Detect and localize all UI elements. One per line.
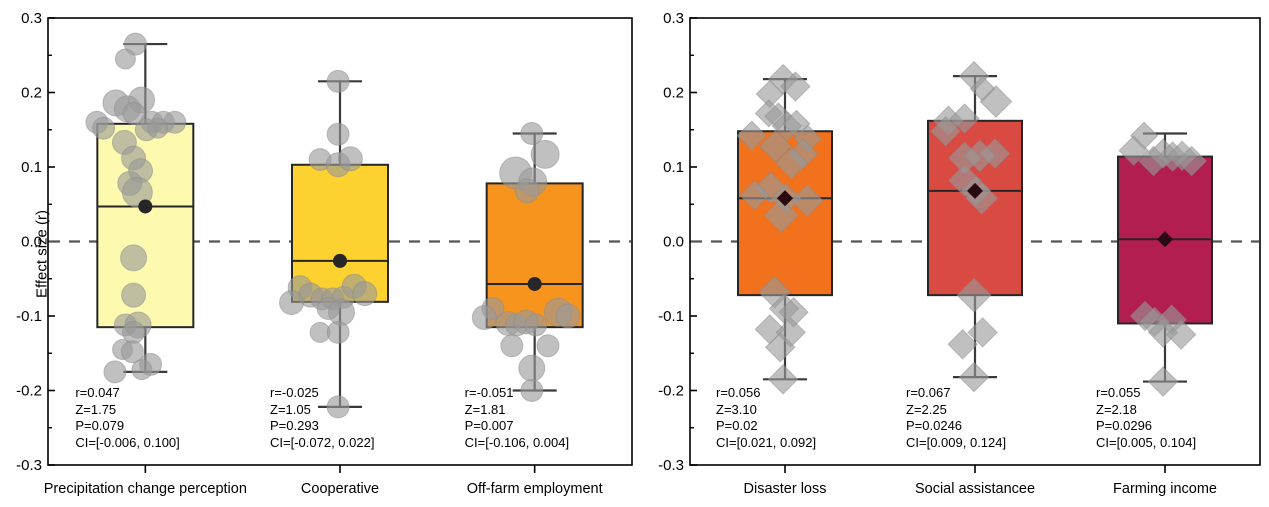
stat-line-r: r=0.055 bbox=[1096, 385, 1196, 402]
y-axis-title: Effect size (r) bbox=[34, 209, 51, 297]
y-tick-label: -0.2 bbox=[658, 383, 684, 400]
box-statistics: r=0.067Z=2.25P=0.0246CI=[0.009, 0.124] bbox=[906, 385, 1006, 451]
box-statistics: r=-0.025Z=1.05P=0.293CI=[-0.072, 0.022] bbox=[270, 385, 374, 451]
stat-line-P: P=0.0296 bbox=[1096, 418, 1196, 435]
data-point bbox=[531, 140, 559, 168]
data-point bbox=[327, 123, 349, 145]
data-point bbox=[327, 321, 349, 343]
stat-line-r: r=0.047 bbox=[75, 385, 179, 402]
y-tick-label: -0.2 bbox=[16, 383, 42, 400]
data-point bbox=[122, 283, 146, 307]
data-point bbox=[525, 314, 547, 336]
stat-line-Z: Z=1.05 bbox=[270, 402, 374, 419]
data-point bbox=[556, 304, 580, 328]
stat-line-CI: CI=[-0.106, 0.004] bbox=[465, 435, 569, 452]
median-marker bbox=[528, 277, 542, 291]
stat-line-Z: Z=2.18 bbox=[1096, 402, 1196, 419]
box-statistics: r=-0.051Z=1.81P=0.007CI=[-0.106, 0.004] bbox=[465, 385, 569, 451]
data-point bbox=[280, 291, 304, 315]
data-point bbox=[121, 245, 147, 271]
data-point bbox=[519, 355, 545, 381]
data-point bbox=[115, 49, 135, 69]
box-group bbox=[928, 62, 1022, 392]
x-axis-category-label: Farming income bbox=[1113, 481, 1217, 497]
stat-line-r: r=0.056 bbox=[716, 385, 816, 402]
x-axis-category-label: Social assistancee bbox=[915, 481, 1035, 497]
box-group bbox=[86, 33, 193, 383]
stat-line-r: r=-0.051 bbox=[465, 385, 569, 402]
stat-line-P: P=0.293 bbox=[270, 418, 374, 435]
y-tick-label: 0.1 bbox=[21, 159, 42, 176]
y-tick-label: -0.1 bbox=[658, 308, 684, 325]
data-point bbox=[472, 305, 496, 329]
stat-line-P: P=0.007 bbox=[465, 418, 569, 435]
y-tick-label: 0.3 bbox=[21, 10, 42, 27]
box-group bbox=[1118, 122, 1212, 396]
stat-line-CI: CI=[-0.072, 0.022] bbox=[270, 435, 374, 452]
data-point bbox=[148, 118, 168, 138]
stat-line-Z: Z=2.25 bbox=[906, 402, 1006, 419]
stat-line-P: P=0.079 bbox=[75, 418, 179, 435]
data-point bbox=[329, 299, 355, 325]
data-point bbox=[353, 282, 377, 306]
stat-line-CI: CI=[-0.006, 0.100] bbox=[75, 435, 179, 452]
x-axis-category-label: Precipitation change perception bbox=[44, 481, 247, 497]
y-tick-label: -0.3 bbox=[658, 457, 684, 474]
stat-line-P: P=0.02 bbox=[716, 418, 816, 435]
y-tick-label: 0.3 bbox=[663, 10, 684, 27]
y-tick-label: 0.0 bbox=[663, 234, 684, 251]
data-point bbox=[327, 70, 349, 92]
y-tick-label: -0.1 bbox=[16, 308, 42, 325]
stat-line-r: r=-0.025 bbox=[270, 385, 374, 402]
stat-line-CI: CI=[0.009, 0.124] bbox=[906, 435, 1006, 452]
box-group bbox=[280, 70, 388, 418]
x-axis-category-label: Disaster loss bbox=[744, 481, 827, 497]
median-marker bbox=[333, 254, 347, 268]
stat-line-Z: Z=1.75 bbox=[75, 402, 179, 419]
y-tick-label: 0.2 bbox=[663, 85, 684, 102]
data-point bbox=[93, 117, 115, 139]
stat-line-r: r=0.067 bbox=[906, 385, 1006, 402]
stat-line-CI: CI=[0.005, 0.104] bbox=[1096, 435, 1196, 452]
data-point bbox=[104, 361, 126, 383]
x-axis-category-label: Off-farm employment bbox=[467, 481, 603, 497]
box-group bbox=[737, 65, 832, 394]
y-tick-label: 0.1 bbox=[663, 159, 684, 176]
stat-line-Z: Z=3.10 bbox=[716, 402, 816, 419]
box-statistics: r=0.056Z=3.10P=0.02CI=[0.021, 0.092] bbox=[716, 385, 816, 451]
figure-root: Effect size (r) 0.30.20.10.0-0.1-0.2-0.3… bbox=[0, 0, 1269, 507]
box-statistics: r=0.055Z=2.18P=0.0296CI=[0.005, 0.104] bbox=[1096, 385, 1196, 451]
data-point bbox=[140, 353, 162, 375]
stat-line-P: P=0.0246 bbox=[906, 418, 1006, 435]
y-tick-label: 0.2 bbox=[21, 85, 42, 102]
stat-line-Z: Z=1.81 bbox=[465, 402, 569, 419]
y-tick-label: -0.3 bbox=[16, 457, 42, 474]
stat-line-CI: CI=[0.021, 0.092] bbox=[716, 435, 816, 452]
data-point bbox=[501, 335, 523, 357]
median-marker bbox=[138, 199, 152, 213]
x-axis-category-label: Cooperative bbox=[301, 481, 379, 497]
box-statistics: r=0.047Z=1.75P=0.079CI=[-0.006, 0.100] bbox=[75, 385, 179, 451]
data-point bbox=[537, 335, 559, 357]
data-point bbox=[338, 147, 362, 171]
box-group bbox=[472, 122, 582, 401]
data-point bbox=[515, 179, 539, 203]
